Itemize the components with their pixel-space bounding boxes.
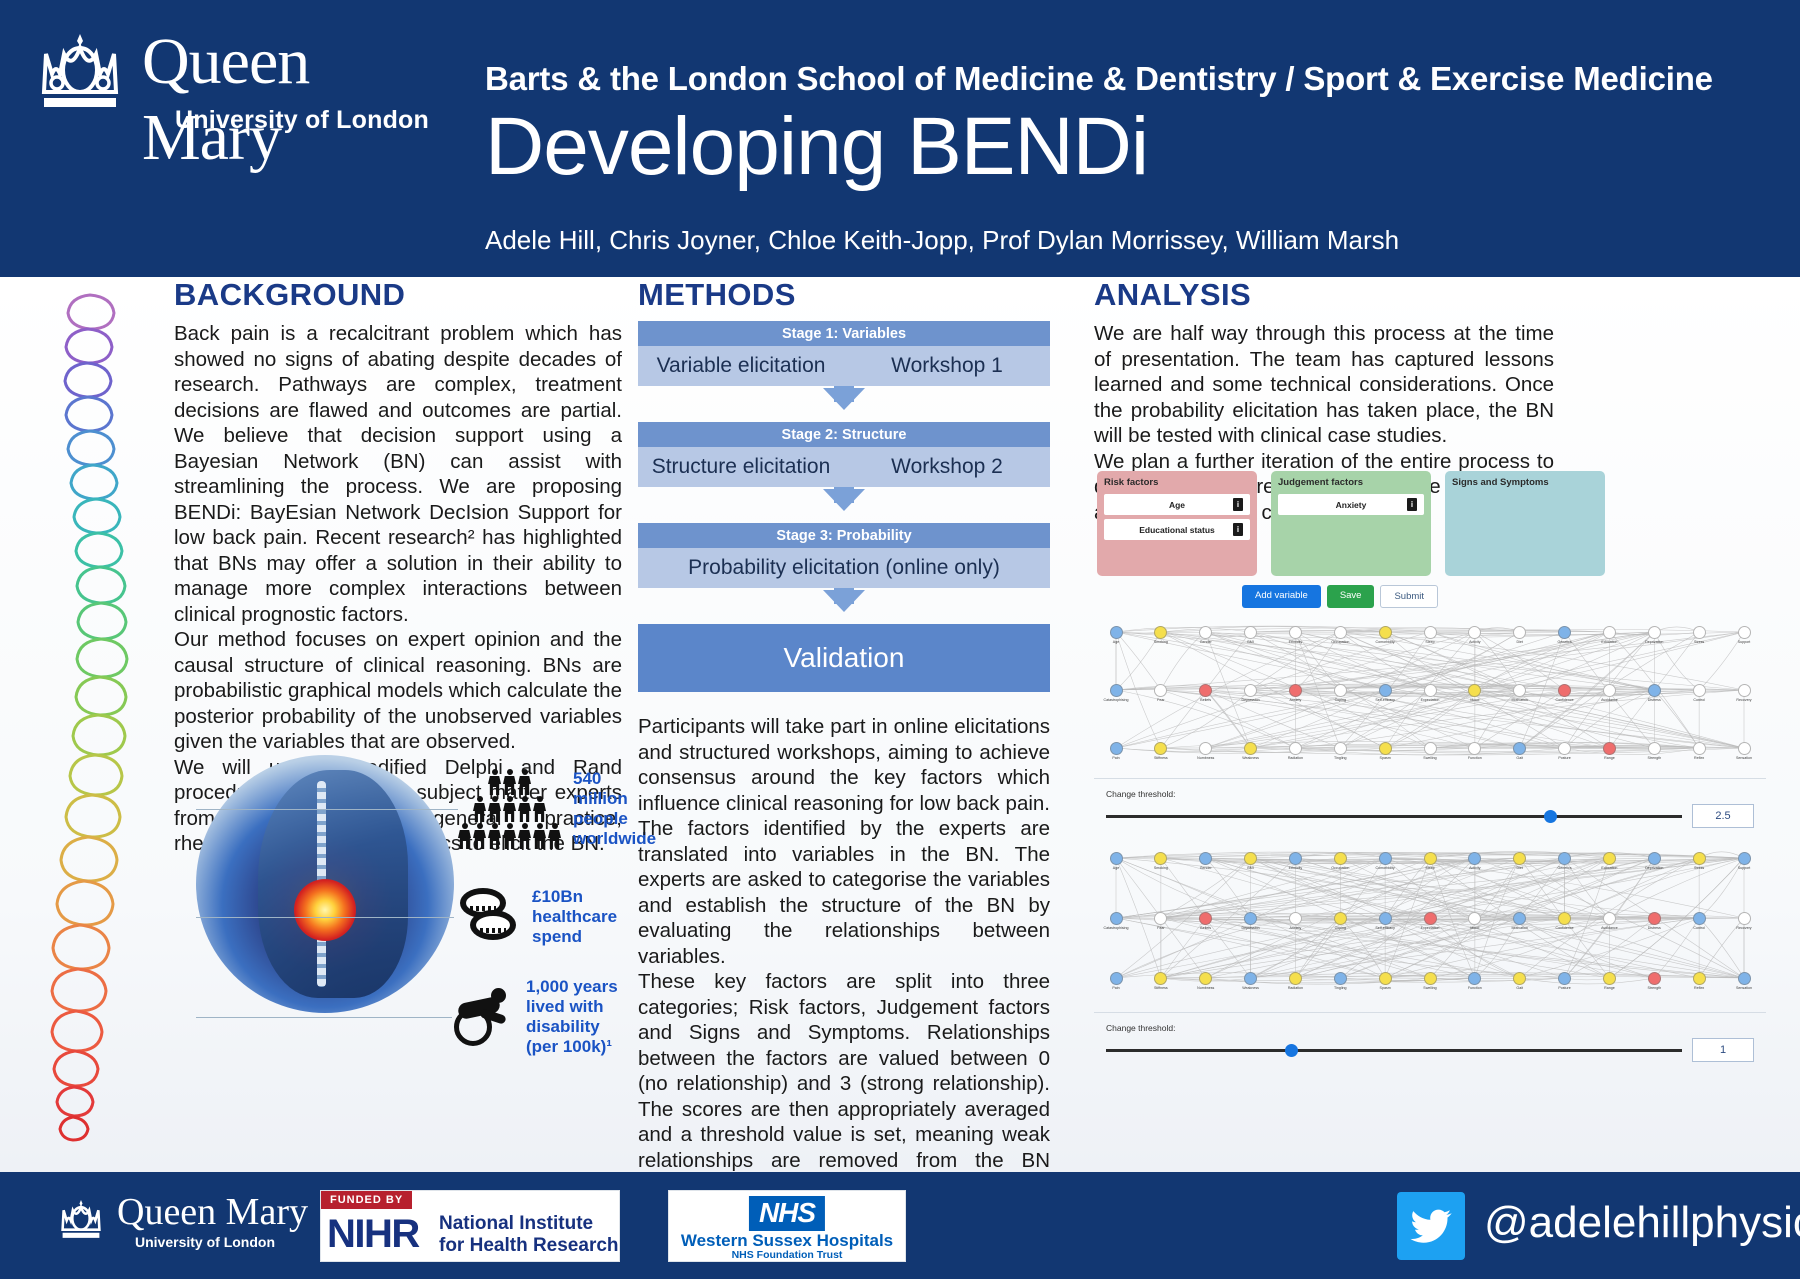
bn-node-label: Confidence	[1548, 698, 1582, 702]
bn-node-label: Avoidance	[1592, 698, 1626, 702]
bn-node-label: Distress	[1637, 926, 1671, 930]
poster-header: Queen Mary University of London Barts & …	[0, 0, 1800, 277]
crown-icon	[55, 1198, 107, 1244]
stage-1-box: Stage 1: Variables Variable elicitation …	[638, 321, 1050, 386]
bn-node-label: Stress	[1682, 640, 1716, 644]
bn-node[interactable]	[1468, 852, 1481, 865]
info-icon[interactable]: i	[1233, 498, 1243, 511]
bn-node-label: Control	[1682, 926, 1716, 930]
flow-arrow-1	[638, 386, 1050, 422]
author-list: Adele Hill, Chris Joyner, Chloe Keith-Jo…	[485, 225, 1399, 256]
bn-node[interactable]	[1379, 684, 1392, 697]
bn-node[interactable]	[1738, 742, 1751, 755]
nhs-trust-name: Western Sussex Hospitals	[669, 1231, 905, 1251]
background-heading: BACKGROUND	[174, 277, 622, 313]
bn-node-label: Radiation	[1278, 986, 1312, 990]
methods-paragraph-1: Participants will take part in online el…	[638, 714, 1050, 969]
bn-node[interactable]	[1424, 626, 1437, 639]
info-icon[interactable]: i	[1233, 523, 1243, 536]
threshold-control-1: Change threshold: 2.5	[1094, 789, 1766, 828]
stat-label-spend: £10Bn healthcare spend	[532, 887, 617, 947]
bn-node-label: Coping	[1323, 698, 1357, 702]
flow-arrow-3	[638, 588, 1050, 624]
bn-node[interactable]	[1558, 852, 1571, 865]
bn-node[interactable]	[1154, 684, 1167, 697]
bn-node-label: Weakness	[1234, 986, 1268, 990]
bn-node[interactable]	[1289, 626, 1302, 639]
nhs-trust-sub: NHS Foundation Trust	[669, 1249, 905, 1261]
bn-node-label: Pain	[1099, 756, 1133, 760]
bn-node[interactable]	[1199, 912, 1212, 925]
stage-1-right: Workshop 1	[844, 354, 1050, 378]
bn-node-label: Spasm	[1368, 986, 1402, 990]
bn-node[interactable]	[1558, 972, 1571, 985]
bn-node[interactable]	[1244, 684, 1257, 697]
bn-node-label: Recovery	[1727, 698, 1761, 702]
variable-label: Age	[1169, 500, 1185, 510]
bn-node[interactable]	[1289, 852, 1302, 865]
bn-node[interactable]	[1648, 972, 1661, 985]
bn-node[interactable]	[1603, 852, 1616, 865]
methods-column: METHODS Stage 1: Variables Variable elic…	[638, 277, 1050, 1224]
bn-node-label: Numbness	[1189, 756, 1223, 760]
bn-node[interactable]	[1738, 972, 1751, 985]
nhs-mark: NHS	[749, 1196, 825, 1231]
judgement-factors-panel[interactable]: Judgement factors Anxiety i	[1271, 471, 1431, 576]
nihr-funded-by-label: FUNDED BY	[321, 1191, 412, 1209]
bn-node-label: Expectation	[1413, 926, 1447, 930]
bn-node-label: Gait	[1503, 756, 1537, 760]
bn-node[interactable]	[1693, 684, 1706, 697]
bn-node[interactable]	[1199, 972, 1212, 985]
add-variable-button[interactable]: Add variable	[1242, 585, 1321, 608]
bn-node-label: Comorbidity	[1368, 866, 1402, 870]
bn-node[interactable]	[1154, 852, 1167, 865]
bn-node[interactable]	[1738, 852, 1751, 865]
bn-action-buttons: Add variable Save Submit	[1242, 585, 1766, 608]
bn-node-label: Age	[1099, 640, 1133, 644]
footer-qm-wordmark: Queen Mary	[117, 1190, 308, 1234]
nihr-logo: FUNDED BY NIHR National Institute for He…	[320, 1190, 620, 1262]
variable-chip-educational-status[interactable]: Educational status i	[1104, 519, 1250, 540]
bn-node-label: Activity	[1458, 866, 1492, 870]
bayesian-network-graph-1[interactable]: AgeSmokingGenderBMIEthnicityOccupationCo…	[1094, 612, 1766, 772]
bayesian-network-graph-2[interactable]: AgeSmokingGenderBMIEthnicityOccupationCo…	[1094, 836, 1766, 1004]
queen-mary-logo: Queen Mary University of London	[30, 28, 450, 138]
bn-node[interactable]	[1603, 684, 1616, 697]
bn-node[interactable]	[1693, 742, 1706, 755]
threshold-value-2[interactable]: 1	[1692, 1038, 1754, 1062]
bn-node-label: Reflex	[1682, 986, 1716, 990]
bn-node-label: Fear	[1144, 698, 1178, 702]
bn-node[interactable]	[1289, 684, 1302, 697]
bn-node[interactable]	[1289, 972, 1302, 985]
stage-3-left: Probability elicitation (online only)	[638, 556, 1050, 580]
bn-node-label: Ethnicity	[1278, 866, 1312, 870]
bn-node[interactable]	[1334, 852, 1347, 865]
footer-qm-sub: University of London	[135, 1234, 275, 1250]
bn-node[interactable]	[1693, 912, 1706, 925]
bn-node-label: Anxiety	[1278, 926, 1312, 930]
bn-node[interactable]	[1603, 626, 1616, 639]
school-line: Barts & the London School of Medicine & …	[485, 60, 1713, 98]
bn-node[interactable]	[1154, 912, 1167, 925]
bn-node-label: Sensation	[1727, 756, 1761, 760]
leader-line	[196, 809, 458, 810]
stage-3-box: Stage 3: Probability Probability elicita…	[638, 523, 1050, 588]
stage-1-title: Stage 1: Variables	[638, 321, 1050, 346]
bn-node-label: Support	[1727, 640, 1761, 644]
footer-queen-mary-logo: Queen Mary University of London	[55, 1194, 345, 1256]
bn-node[interactable]	[1154, 972, 1167, 985]
bn-node-label: Mood	[1458, 698, 1492, 702]
bn-node-label: Ethnicity	[1278, 640, 1312, 644]
bn-node[interactable]	[1648, 626, 1661, 639]
signs-symptoms-panel[interactable]: Signs and Symptoms	[1445, 471, 1605, 576]
bn-node-label: Occupation	[1323, 866, 1357, 870]
stage-2-box: Stage 2: Structure Structure elicitation…	[638, 422, 1050, 487]
bn-node[interactable]	[1468, 972, 1481, 985]
threshold-slider-1[interactable]	[1106, 815, 1682, 818]
bn-node[interactable]	[1558, 684, 1571, 697]
bn-node[interactable]	[1424, 684, 1437, 697]
bn-editor-screenshot: Risk factors Age i Educational status i …	[1094, 471, 1766, 1062]
bn-node-label: BMI	[1234, 640, 1268, 644]
bn-node-label: Deprivation	[1637, 640, 1671, 644]
bn-node-label: Distress	[1637, 698, 1671, 702]
bn-node-label: Support	[1727, 866, 1761, 870]
bn-node-label: Genetics	[1548, 640, 1582, 644]
bn-node-label: Motivation	[1503, 698, 1537, 702]
bn-node-label: Stiffness	[1144, 756, 1178, 760]
submit-button[interactable]: Submit	[1380, 585, 1438, 608]
leader-line	[196, 1017, 452, 1018]
wheelchair-icon	[452, 988, 514, 1046]
bn-node-label: Stress	[1682, 866, 1716, 870]
bn-node[interactable]	[1379, 852, 1392, 865]
bn-node-label: Avoidance	[1592, 926, 1626, 930]
bn-node[interactable]	[1648, 912, 1661, 925]
bn-node[interactable]	[1738, 912, 1751, 925]
bn-node-label: Range	[1592, 756, 1626, 760]
bn-node-label: Comorbidity	[1368, 640, 1402, 644]
bn-node[interactable]	[1513, 684, 1526, 697]
bn-node[interactable]	[1603, 972, 1616, 985]
bn-node[interactable]	[1334, 912, 1347, 925]
bn-node[interactable]	[1513, 626, 1526, 639]
bn-node[interactable]	[1110, 852, 1123, 865]
bn-node[interactable]	[1379, 972, 1392, 985]
bn-node-label: Mood	[1458, 926, 1492, 930]
poster-body: BACKGROUND Back pain is a recalcitrant p…	[0, 277, 1800, 1172]
bn-node[interactable]	[1738, 626, 1751, 639]
nihr-line-2: for Health Research	[439, 1235, 619, 1257]
bn-node[interactable]	[1424, 912, 1437, 925]
bn-node-label: Tingling	[1323, 986, 1357, 990]
bn-node[interactable]	[1648, 852, 1661, 865]
bn-node-label: Strength	[1637, 986, 1671, 990]
bn-node[interactable]	[1468, 626, 1481, 639]
bn-node[interactable]	[1199, 852, 1212, 865]
bn-node[interactable]	[1693, 852, 1706, 865]
stat-row-people: 540 million people worldwide	[196, 769, 616, 849]
bn-node-label: Stiffness	[1144, 986, 1178, 990]
stage-2-left: Structure elicitation	[638, 455, 844, 479]
bn-node[interactable]	[1558, 912, 1571, 925]
coins-icon	[454, 888, 520, 946]
bn-node-label: Range	[1592, 986, 1626, 990]
save-button[interactable]: Save	[1327, 585, 1375, 608]
bn-node-label: Education	[1592, 640, 1626, 644]
bn-node[interactable]	[1424, 742, 1437, 755]
variable-chip-anxiety[interactable]: Anxiety i	[1278, 494, 1424, 515]
judgement-factors-title: Judgement factors	[1278, 477, 1424, 488]
twitter-handle: @adelehillphysio	[1484, 1198, 1800, 1248]
bn-node-label: Catastrophising	[1099, 698, 1133, 702]
twitter-icon[interactable]	[1397, 1192, 1465, 1260]
bn-node[interactable]	[1154, 742, 1167, 755]
divider	[1094, 778, 1766, 779]
divider	[1094, 1012, 1766, 1013]
nihr-initials: NIHR	[327, 1212, 419, 1257]
bn-node-label: Diet	[1503, 866, 1537, 870]
poster-title: Developing BENDi	[485, 100, 1148, 194]
bn-node[interactable]	[1558, 626, 1571, 639]
analysis-paragraph-1: We are half way through this process at …	[1094, 321, 1554, 449]
stage-1-left: Variable elicitation	[638, 354, 844, 378]
stage-3-title: Stage 3: Probability	[638, 523, 1050, 548]
bn-node[interactable]	[1334, 684, 1347, 697]
bn-node[interactable]	[1154, 626, 1167, 639]
bn-node[interactable]	[1110, 742, 1123, 755]
bn-node-label: Posture	[1548, 756, 1582, 760]
bn-node[interactable]	[1334, 742, 1347, 755]
bn-node-label: Posture	[1548, 986, 1582, 990]
nhs-logo: NHS Western Sussex Hospitals NHS Foundat…	[668, 1190, 906, 1262]
bn-node-label: Depression	[1234, 698, 1268, 702]
bn-node[interactable]	[1424, 852, 1437, 865]
threshold-slider-2[interactable]	[1106, 1049, 1682, 1052]
bn-node-label: Confidence	[1548, 926, 1582, 930]
bn-node-label: Reflex	[1682, 756, 1716, 760]
bn-node[interactable]	[1513, 852, 1526, 865]
bn-node-label: Weakness	[1234, 756, 1268, 760]
bn-node-label: Sleep	[1413, 640, 1447, 644]
qm-wordmark: Queen Mary	[142, 24, 450, 176]
bn-node-label: Swelling	[1413, 756, 1447, 760]
bn-node[interactable]	[1424, 972, 1437, 985]
bn-node-label: Control	[1682, 698, 1716, 702]
nihr-line-1: National Institute	[439, 1213, 619, 1235]
bn-node[interactable]	[1468, 742, 1481, 755]
bn-node[interactable]	[1244, 742, 1257, 755]
bn-node[interactable]	[1603, 912, 1616, 925]
poster-footer: Queen Mary University of London FUNDED B…	[0, 1172, 1800, 1279]
bn-node[interactable]	[1513, 972, 1526, 985]
bn-node[interactable]	[1648, 684, 1661, 697]
bn-node[interactable]	[1334, 972, 1347, 985]
signs-symptoms-title: Signs and Symptoms	[1452, 477, 1598, 488]
bn-node-label: Genetics	[1548, 866, 1582, 870]
bn-node[interactable]	[1244, 972, 1257, 985]
bn-node[interactable]	[1738, 684, 1751, 697]
bn-node-label: Gender	[1189, 866, 1223, 870]
bn-node-label: Age	[1099, 866, 1133, 870]
people-icon	[458, 769, 561, 849]
variable-label: Anxiety	[1336, 500, 1367, 510]
bn-node-label: Depression	[1234, 926, 1268, 930]
bn-node-label: Beliefs	[1189, 926, 1223, 930]
bn-node-label: Anxiety	[1278, 698, 1312, 702]
bn-node-label: Function	[1458, 756, 1492, 760]
bn-node[interactable]	[1603, 742, 1616, 755]
bn-node-label: Sleep	[1413, 866, 1447, 870]
bn-node-label: Gender	[1189, 640, 1223, 644]
bn-node[interactable]	[1110, 912, 1123, 925]
variable-label: Educational status	[1139, 525, 1215, 535]
bn-node[interactable]	[1289, 742, 1302, 755]
bn-node-label: Self-efficacy	[1368, 698, 1402, 702]
bn-node[interactable]	[1110, 626, 1123, 639]
bn-node-label: BMI	[1234, 866, 1268, 870]
bn-node[interactable]	[1558, 742, 1571, 755]
bn-node[interactable]	[1468, 684, 1481, 697]
stat-row-spend: £10Bn healthcare spend	[196, 887, 616, 947]
bn-node-label: Swelling	[1413, 986, 1447, 990]
bn-node-label: Recovery	[1727, 926, 1761, 930]
bn-node[interactable]	[1244, 626, 1257, 639]
slider-knob[interactable]	[1544, 810, 1557, 823]
bn-node[interactable]	[1244, 852, 1257, 865]
bn-node[interactable]	[1648, 742, 1661, 755]
bn-node[interactable]	[1110, 684, 1123, 697]
stage-2-right: Workshop 2	[844, 455, 1050, 479]
stat-label-disability: 1,000 years lived with disability (per 1…	[526, 977, 626, 1057]
stage-2-title: Stage 2: Structure	[638, 422, 1050, 447]
bn-node[interactable]	[1693, 626, 1706, 639]
spine-illustration	[38, 287, 173, 1157]
bn-node[interactable]	[1289, 912, 1302, 925]
bn-node[interactable]	[1199, 626, 1212, 639]
leader-line	[196, 917, 454, 918]
crown-icon	[30, 30, 130, 120]
threshold-label-1: Change threshold:	[1106, 789, 1754, 799]
bn-node[interactable]	[1693, 972, 1706, 985]
bn-node-label: Occupation	[1323, 640, 1357, 644]
background-column: BACKGROUND Back pain is a recalcitrant p…	[174, 277, 622, 857]
bn-node[interactable]	[1199, 742, 1212, 755]
bn-node-label: Self-efficacy	[1368, 926, 1402, 930]
bn-node-label: Smoking	[1144, 866, 1178, 870]
bn-node-label: Activity	[1458, 640, 1492, 644]
bn-node-label: Function	[1458, 986, 1492, 990]
threshold-value-1[interactable]: 2.5	[1692, 804, 1754, 828]
analysis-heading: ANALYSIS	[1094, 277, 1554, 313]
bn-node[interactable]	[1379, 626, 1392, 639]
qm-sub-wordmark: University of London	[175, 106, 429, 135]
bn-node-label: Radiation	[1278, 756, 1312, 760]
bn-node-label: Catastrophising	[1099, 926, 1133, 930]
bn-node[interactable]	[1468, 912, 1481, 925]
bn-node-label: Strength	[1637, 756, 1671, 760]
bn-node[interactable]	[1199, 684, 1212, 697]
flow-arrow-2	[638, 487, 1050, 523]
bn-node-label: Diet	[1503, 640, 1537, 644]
bn-node-label: Motivation	[1503, 926, 1537, 930]
bn-node-label: Pain	[1099, 986, 1133, 990]
category-panel-row: Risk factors Age i Educational status i …	[1097, 471, 1766, 576]
bn-node[interactable]	[1513, 742, 1526, 755]
bn-node-label: Education	[1592, 866, 1626, 870]
slider-knob[interactable]	[1285, 1044, 1298, 1057]
bn-node-label: Numbness	[1189, 986, 1223, 990]
bn-node[interactable]	[1334, 626, 1347, 639]
bn-node[interactable]	[1244, 912, 1257, 925]
stat-row-disability: 1,000 years lived with disability (per 1…	[196, 977, 626, 1057]
bn-node-label: Beliefs	[1189, 698, 1223, 702]
bn-node-label: Expectation	[1413, 698, 1447, 702]
variable-chip-age[interactable]: Age i	[1104, 494, 1250, 515]
bn-node-label: Fear	[1144, 926, 1178, 930]
methods-heading: METHODS	[638, 277, 1050, 313]
background-paragraph-2: Our method focuses on expert opinion and…	[174, 627, 622, 755]
threshold-label-2: Change threshold:	[1106, 1023, 1754, 1033]
validation-box: Validation	[638, 624, 1050, 692]
bn-node-label: Deprivation	[1637, 866, 1671, 870]
risk-factors-panel[interactable]: Risk factors Age i Educational status i	[1097, 471, 1257, 576]
bn-node-label: Coping	[1323, 926, 1357, 930]
bn-node[interactable]	[1379, 912, 1392, 925]
bn-node[interactable]	[1379, 742, 1392, 755]
info-icon[interactable]: i	[1407, 498, 1417, 511]
risk-factors-title: Risk factors	[1104, 477, 1250, 488]
bn-node-label: Sensation	[1727, 986, 1761, 990]
bn-node-label: Tingling	[1323, 756, 1357, 760]
bn-node-label: Spasm	[1368, 756, 1402, 760]
bn-node[interactable]	[1110, 972, 1123, 985]
threshold-control-2: Change threshold: 1	[1094, 1023, 1766, 1062]
bn-node-label: Gait	[1503, 986, 1537, 990]
bn-node[interactable]	[1513, 912, 1526, 925]
background-paragraph-1: Back pain is a recalcitrant problem whic…	[174, 321, 622, 627]
bn-node-label: Smoking	[1144, 640, 1178, 644]
